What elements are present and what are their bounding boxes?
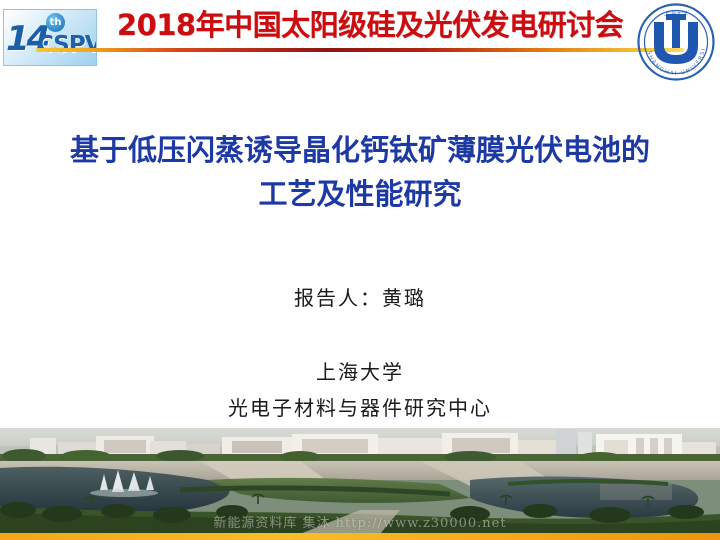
conference-banner-title: 2018年中国太阳级硅及光伏发电研讨会 <box>100 4 640 48</box>
cspv-logo-acronym: CSPV <box>37 32 97 58</box>
page-title-line-1: 基于低压闪蒸诱导晶化钙钛矿薄膜光伏电池的 <box>40 128 680 172</box>
affiliation-department: 光电子材料与器件研究中心 <box>0 392 720 421</box>
svg-text:上海大学: 上海大学 <box>664 10 688 18</box>
presenter-label: 报告人：黄璐 <box>0 282 720 311</box>
campus-photo <box>0 428 720 534</box>
page-title-line-2: 工艺及性能研究 <box>40 172 680 216</box>
shanghai-university-logo-svg: 上海大学 SHANGHAI UNIVERSITY <box>636 2 716 82</box>
campus-photo-svg <box>0 428 720 534</box>
footer-bar <box>0 533 720 540</box>
page-title: 基于低压闪蒸诱导晶化钙钛矿薄膜光伏电池的 工艺及性能研究 <box>40 128 680 216</box>
header-divider-rule <box>36 48 684 52</box>
slide-root: 14 th CSPV 2018年中国太阳级硅及光伏发电研讨会 上海大学 SHAN… <box>0 0 720 540</box>
shanghai-university-logo: 上海大学 SHANGHAI UNIVERSITY <box>636 2 716 82</box>
affiliation-university: 上海大学 <box>0 356 720 385</box>
header-banner: 14 th CSPV 2018年中国太阳级硅及光伏发电研讨会 上海大学 SHAN… <box>0 0 720 86</box>
cspv-logo: 14 th CSPV <box>3 9 97 66</box>
cspv-logo-ordinal: th <box>46 13 65 32</box>
